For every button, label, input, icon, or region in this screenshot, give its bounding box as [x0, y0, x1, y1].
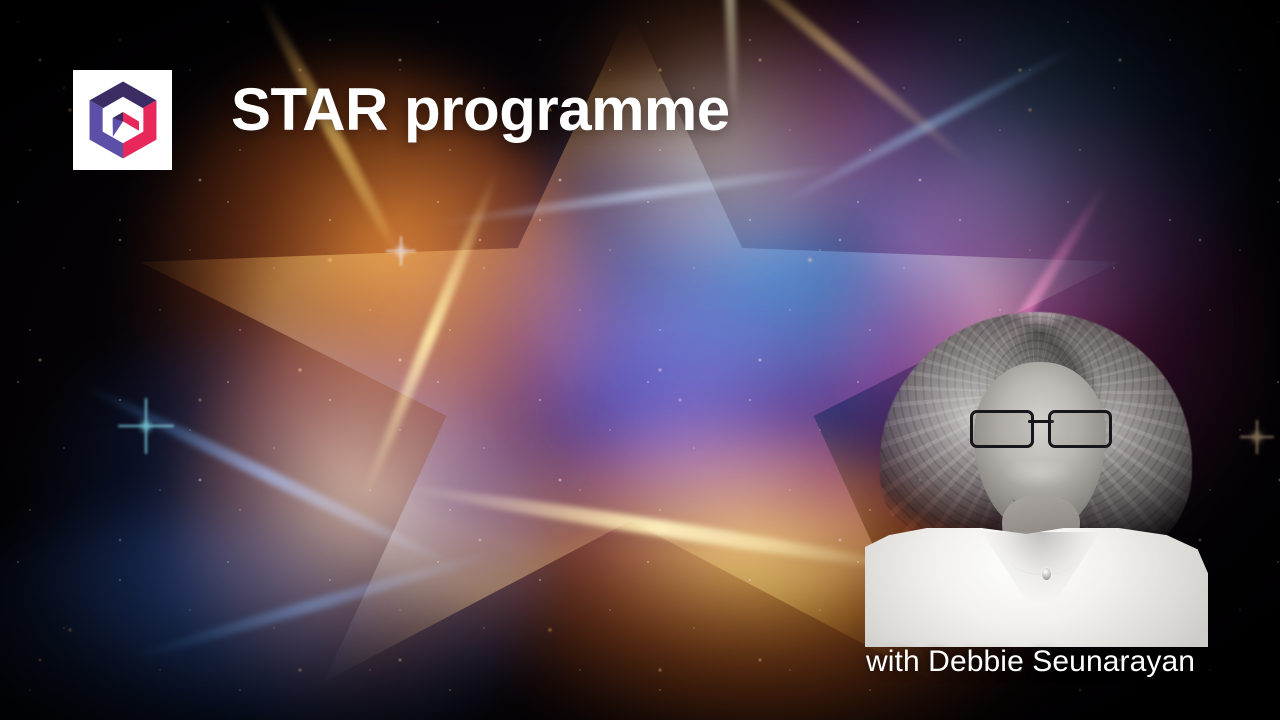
- portrait-glasses: [970, 410, 1112, 444]
- portrait-necklace-pendant: [1042, 568, 1051, 580]
- slide-canvas: STAR programme with Debbie Seunarayan: [0, 0, 1280, 720]
- glasses-right-lens: [1048, 410, 1112, 448]
- page-title: STAR programme: [231, 78, 730, 141]
- presenter-portrait: [862, 300, 1208, 647]
- hexagon-g-icon: [86, 80, 160, 160]
- glasses-left-lens: [970, 410, 1034, 448]
- brand-logo[interactable]: [73, 70, 172, 170]
- portrait-photo: [862, 300, 1208, 647]
- presenter-caption: with Debbie Seunarayan: [866, 645, 1195, 679]
- portrait-cheek-highlight: [1002, 458, 1076, 488]
